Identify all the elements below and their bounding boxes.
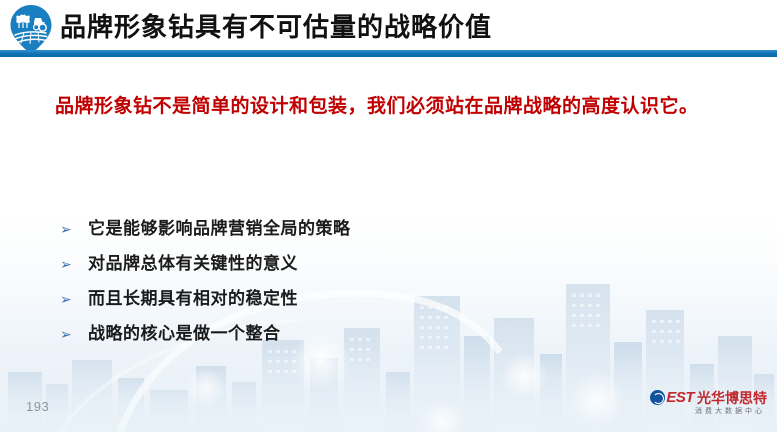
corporate-logo-cn: 光华博思特: [697, 390, 767, 406]
chevron-right-icon: ➢: [60, 291, 74, 307]
best-circle-icon: [650, 390, 665, 405]
bullet-list: ➢ 它是能够影响品牌营销全局的策略 ➢ 对品牌总体有关键性的意义 ➢ 而且长期具…: [58, 218, 578, 358]
list-item-label: 战略的核心是做一个整合: [88, 324, 281, 343]
header-accent-bar: [0, 50, 777, 57]
farm-location-pin-icon: [8, 4, 54, 56]
corporate-logo-latin-est: EST: [666, 389, 694, 406]
list-item: ➢ 对品牌总体有关键性的意义: [58, 253, 578, 275]
lead-paragraph: 品牌形象钻不是简单的设计和包装，我们必须站在品牌战略的高度认识它。: [55, 88, 705, 126]
list-item: ➢ 它是能够影响品牌营销全局的策略: [58, 218, 578, 240]
list-item-label: 它是能够影响品牌营销全局的策略: [88, 219, 351, 238]
slide-header: 品牌形象钻具有不可估量的战略价值: [0, 0, 777, 58]
corporate-logo: EST 光华博思特 消费大数据中心: [647, 388, 767, 420]
page-number: 193: [26, 399, 49, 414]
corporate-logo-tagline: 消费大数据中心: [647, 407, 767, 417]
chevron-right-icon: ➢: [60, 256, 74, 272]
list-item-label: 对品牌总体有关键性的意义: [88, 254, 298, 273]
page-title: 品牌形象钻具有不可估量的战略价值: [60, 9, 492, 45]
corporate-logo-latin: EST: [666, 390, 694, 406]
chevron-right-icon: ➢: [60, 221, 74, 237]
list-item-label: 而且长期具有相对的稳定性: [88, 289, 298, 308]
chevron-right-icon: ➢: [60, 326, 74, 342]
corporate-logo-main: EST 光华博思特: [647, 388, 767, 407]
list-item: ➢ 战略的核心是做一个整合: [58, 323, 578, 345]
slide: 品牌形象钻具有不可估量的战略价值 品牌形象钻不是简单的设计和包装，我们必须站在品…: [0, 0, 777, 432]
list-item: ➢ 而且长期具有相对的稳定性: [58, 288, 578, 310]
